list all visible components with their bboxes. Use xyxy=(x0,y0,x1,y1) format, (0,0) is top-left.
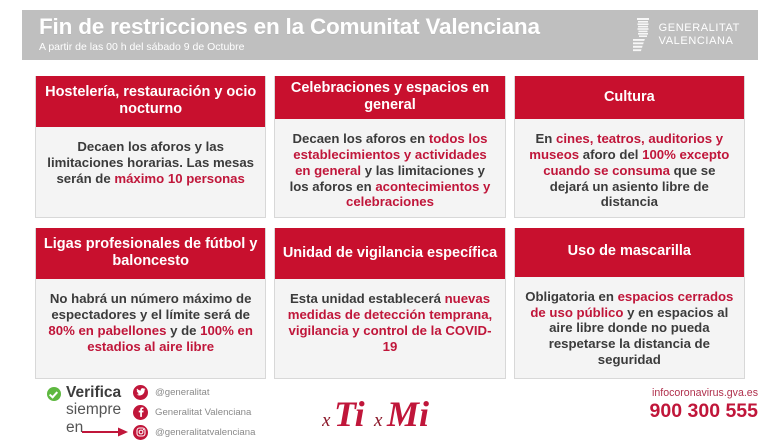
footer: Verifica siempre en @generalitat General… xyxy=(0,382,780,444)
card-text: Decaen los aforos en todos los estableci… xyxy=(284,131,495,210)
card-title: Uso de mascarilla xyxy=(514,228,745,277)
info-block: infocoronavirus.gva.es 900 300 555 xyxy=(650,388,758,422)
verify-line-1: Verifica xyxy=(66,384,121,401)
highlighted-text: 80% en pabellones xyxy=(48,323,166,338)
card-cultura: Cultura En cines, teatros, auditorios y … xyxy=(514,76,745,218)
card-title: Celebraciones y espacios en general xyxy=(274,76,505,119)
card-title: Unidad de vigilancia específica xyxy=(274,228,505,279)
plain-text: En xyxy=(536,131,557,146)
measures-grid: Hostelería, restauración y ocio nocturno… xyxy=(35,76,745,379)
social-row-instagram[interactable]: @generalitatvalenciana xyxy=(133,424,255,440)
svg-text:x: x xyxy=(373,410,383,431)
card-ligas-profesionales: Ligas profesionales de fútbol y balonces… xyxy=(35,228,266,379)
facebook-icon[interactable] xyxy=(133,405,148,420)
social-row-facebook[interactable]: Generalitat Valenciana xyxy=(133,404,255,420)
plain-text: aforo del xyxy=(579,147,642,162)
logo-line-2: VALENCIANA xyxy=(659,35,740,48)
social-links: @generalitat Generalitat Valenciana @gen… xyxy=(133,384,255,440)
plain-text: Obligatoria en xyxy=(525,289,617,304)
header-texts: Fin de restricciones en la Comunitat Val… xyxy=(22,16,633,53)
card-text: Obligatoria en espacios cerrados de uso … xyxy=(524,289,735,368)
card-body: No habrá un número máximo de espectadore… xyxy=(36,279,265,378)
infographic-page: Fin de restricciones en la Comunitat Val… xyxy=(0,0,780,444)
card-text: No habrá un número máximo de espectadore… xyxy=(45,291,256,354)
logo-wordmark: GENERALITAT VALENCIANA xyxy=(659,22,740,48)
social-handle[interactable]: @generalitat xyxy=(155,387,210,398)
verify-line-2: siempre xyxy=(66,401,121,418)
info-phone[interactable]: 900 300 555 xyxy=(650,401,758,423)
plain-text: Decaen los aforos en xyxy=(293,131,429,146)
social-handle[interactable]: Generalitat Valenciana xyxy=(155,407,251,418)
card-title: Cultura xyxy=(514,76,745,119)
red-right-arrow-icon xyxy=(82,426,129,438)
card-text: Esta unidad establecerá nuevas medidas d… xyxy=(284,291,495,354)
card-celebraciones: Celebraciones y espacios en general Deca… xyxy=(274,76,505,218)
svg-text:x: x xyxy=(322,410,331,431)
coat-of-arms-icon xyxy=(633,17,653,53)
page-subtitle: A partir de las 00 h del sábado 9 de Oct… xyxy=(39,42,633,54)
highlighted-text: máximo 10 personas xyxy=(114,171,244,186)
green-check-circle-icon xyxy=(47,387,61,401)
card-title: Ligas profesionales de fútbol y balonces… xyxy=(35,228,266,279)
x-ti-x-mi-campaign-logo: x Ti x Mi xyxy=(322,390,472,436)
header-band: Fin de restricciones en la Comunitat Val… xyxy=(22,10,758,60)
social-row-twitter[interactable]: @generalitat xyxy=(133,384,255,400)
svg-text:Ti: Ti xyxy=(334,394,365,434)
plain-text: Esta unidad establecerá xyxy=(290,291,445,306)
card-title: Hostelería, restauración y ocio nocturno xyxy=(35,76,266,127)
page-title: Fin de restricciones en la Comunitat Val… xyxy=(39,16,633,39)
twitter-icon[interactable] xyxy=(133,385,148,400)
card-text: Decaen los aforos y las limitaciones hor… xyxy=(45,139,256,187)
card-unidad-vigilancia: Unidad de vigilancia específica Esta uni… xyxy=(274,228,505,379)
card-body: En cines, teatros, auditorios y museos a… xyxy=(515,119,744,218)
card-body: Obligatoria en espacios cerrados de uso … xyxy=(515,277,744,378)
card-text: En cines, teatros, auditorios y museos a… xyxy=(524,131,735,210)
generalitat-valenciana-logo: GENERALITAT VALENCIANA xyxy=(633,17,758,53)
card-body: Esta unidad establecerá nuevas medidas d… xyxy=(275,279,504,378)
logo-line-1: GENERALITAT xyxy=(659,22,740,35)
plain-text: No habrá un número máximo de espectadore… xyxy=(50,291,252,322)
card-hosteleria: Hostelería, restauración y ocio nocturno… xyxy=(35,76,266,218)
card-body: Decaen los aforos en todos los estableci… xyxy=(275,119,504,218)
plain-text: y de xyxy=(166,323,200,338)
info-url[interactable]: infocoronavirus.gva.es xyxy=(650,388,758,400)
svg-text:Mi: Mi xyxy=(386,394,429,434)
card-body: Decaen los aforos y las limitaciones hor… xyxy=(36,127,265,217)
social-handle[interactable]: @generalitatvalenciana xyxy=(155,427,255,438)
instagram-icon[interactable] xyxy=(133,425,148,440)
card-uso-mascarilla: Uso de mascarilla Obligatoria en espacio… xyxy=(514,228,745,379)
